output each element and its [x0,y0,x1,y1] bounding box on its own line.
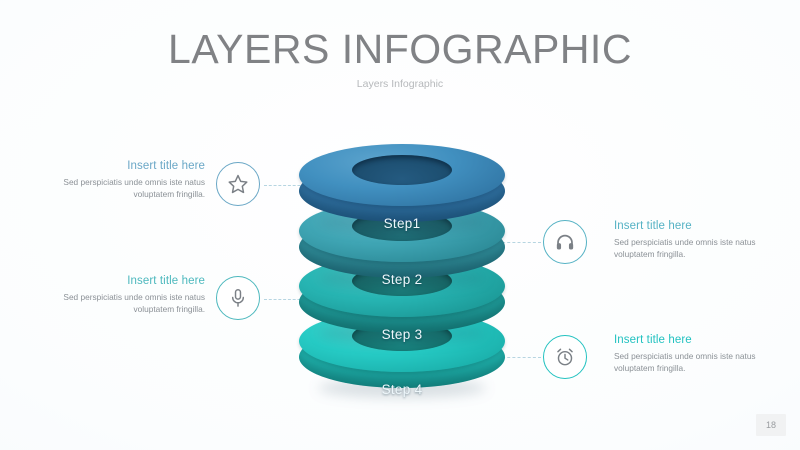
callout-icon-microphone[interactable] [216,276,260,320]
callout-body: Sed perspiciatis unde omnis iste natus v… [614,351,764,375]
callout-text-4: Insert title here Sed perspiciatis unde … [614,334,764,375]
ring-inner-hole [352,155,452,185]
callout-body: Sed perspiciatis unde omnis iste natus v… [55,177,205,201]
step-label-3: Step 3 [296,327,508,342]
page-number-badge: 18 [756,414,786,436]
microphone-icon [227,287,249,309]
callout-title: Insert title here [614,334,764,346]
callout-title: Insert title here [614,220,764,232]
callout-body: Sed perspiciatis unde omnis iste natus v… [55,292,205,316]
star-icon [227,173,249,195]
step-label-1: Step1 [296,216,508,231]
headphones-icon [554,231,576,253]
callout-icon-star[interactable] [216,162,260,206]
callout-icon-alarm-clock[interactable] [543,335,587,379]
callout-text-3: Insert title here Sed perspiciatis unde … [614,220,764,261]
callout-icon-headphones[interactable] [543,220,587,264]
callout-title: Insert title here [55,275,205,287]
layer-ring-1[interactable]: Step1 [296,140,508,236]
step-label-4: Step 4 [296,382,508,397]
callout-text-1: Insert title here Sed perspiciatis unde … [55,160,205,201]
page-title: LAYERS INFOGRAPHIC [0,26,800,73]
callout-body: Sed perspiciatis unde omnis iste natus v… [614,237,764,261]
slide-canvas: LAYERS INFOGRAPHIC Layers Infographic St… [0,0,800,450]
callout-text-2: Insert title here Sed perspiciatis unde … [55,275,205,316]
callout-title: Insert title here [55,160,205,172]
page-subtitle: Layers Infographic [0,78,800,90]
layer-stack: Step 4 Step 3 Step 2 Step1 [296,140,508,402]
alarm-clock-icon [554,346,576,368]
step-label-2: Step 2 [296,272,508,287]
